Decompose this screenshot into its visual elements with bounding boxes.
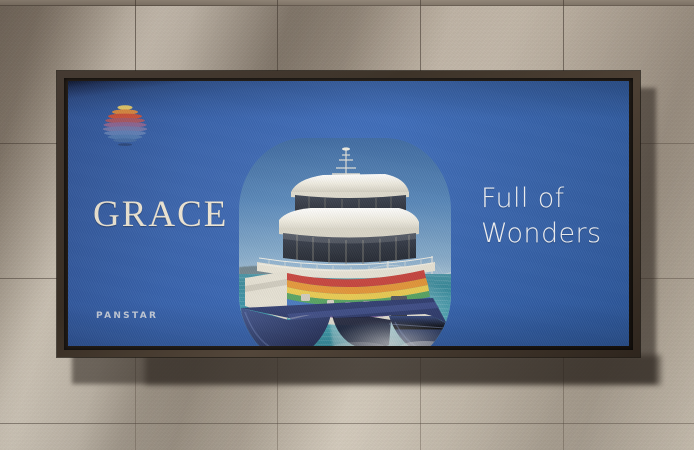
- photo-bow-foam: [331, 321, 451, 346]
- brand-wordmark: PANSTAR: [96, 311, 158, 321]
- page-title: GRACE: [93, 193, 228, 236]
- billboard-scene: GRACE Full of Wonders PANSTAR: [0, 0, 694, 450]
- tagline-line-2: Wonders: [481, 217, 601, 252]
- wall-seam-horizontal: [0, 5, 694, 6]
- billboard-cast-shadow-lower: [145, 355, 661, 385]
- panstar-dome-logo-icon: [99, 102, 151, 148]
- ferry-photo: [239, 138, 451, 346]
- wall-seam-horizontal: [0, 423, 694, 424]
- billboard-poster[interactable]: GRACE Full of Wonders PANSTAR: [68, 81, 629, 346]
- tagline: Full of Wonders: [481, 182, 601, 252]
- ferry-vessel-illustration: [239, 138, 451, 346]
- tagline-line-1: Full of: [481, 182, 601, 217]
